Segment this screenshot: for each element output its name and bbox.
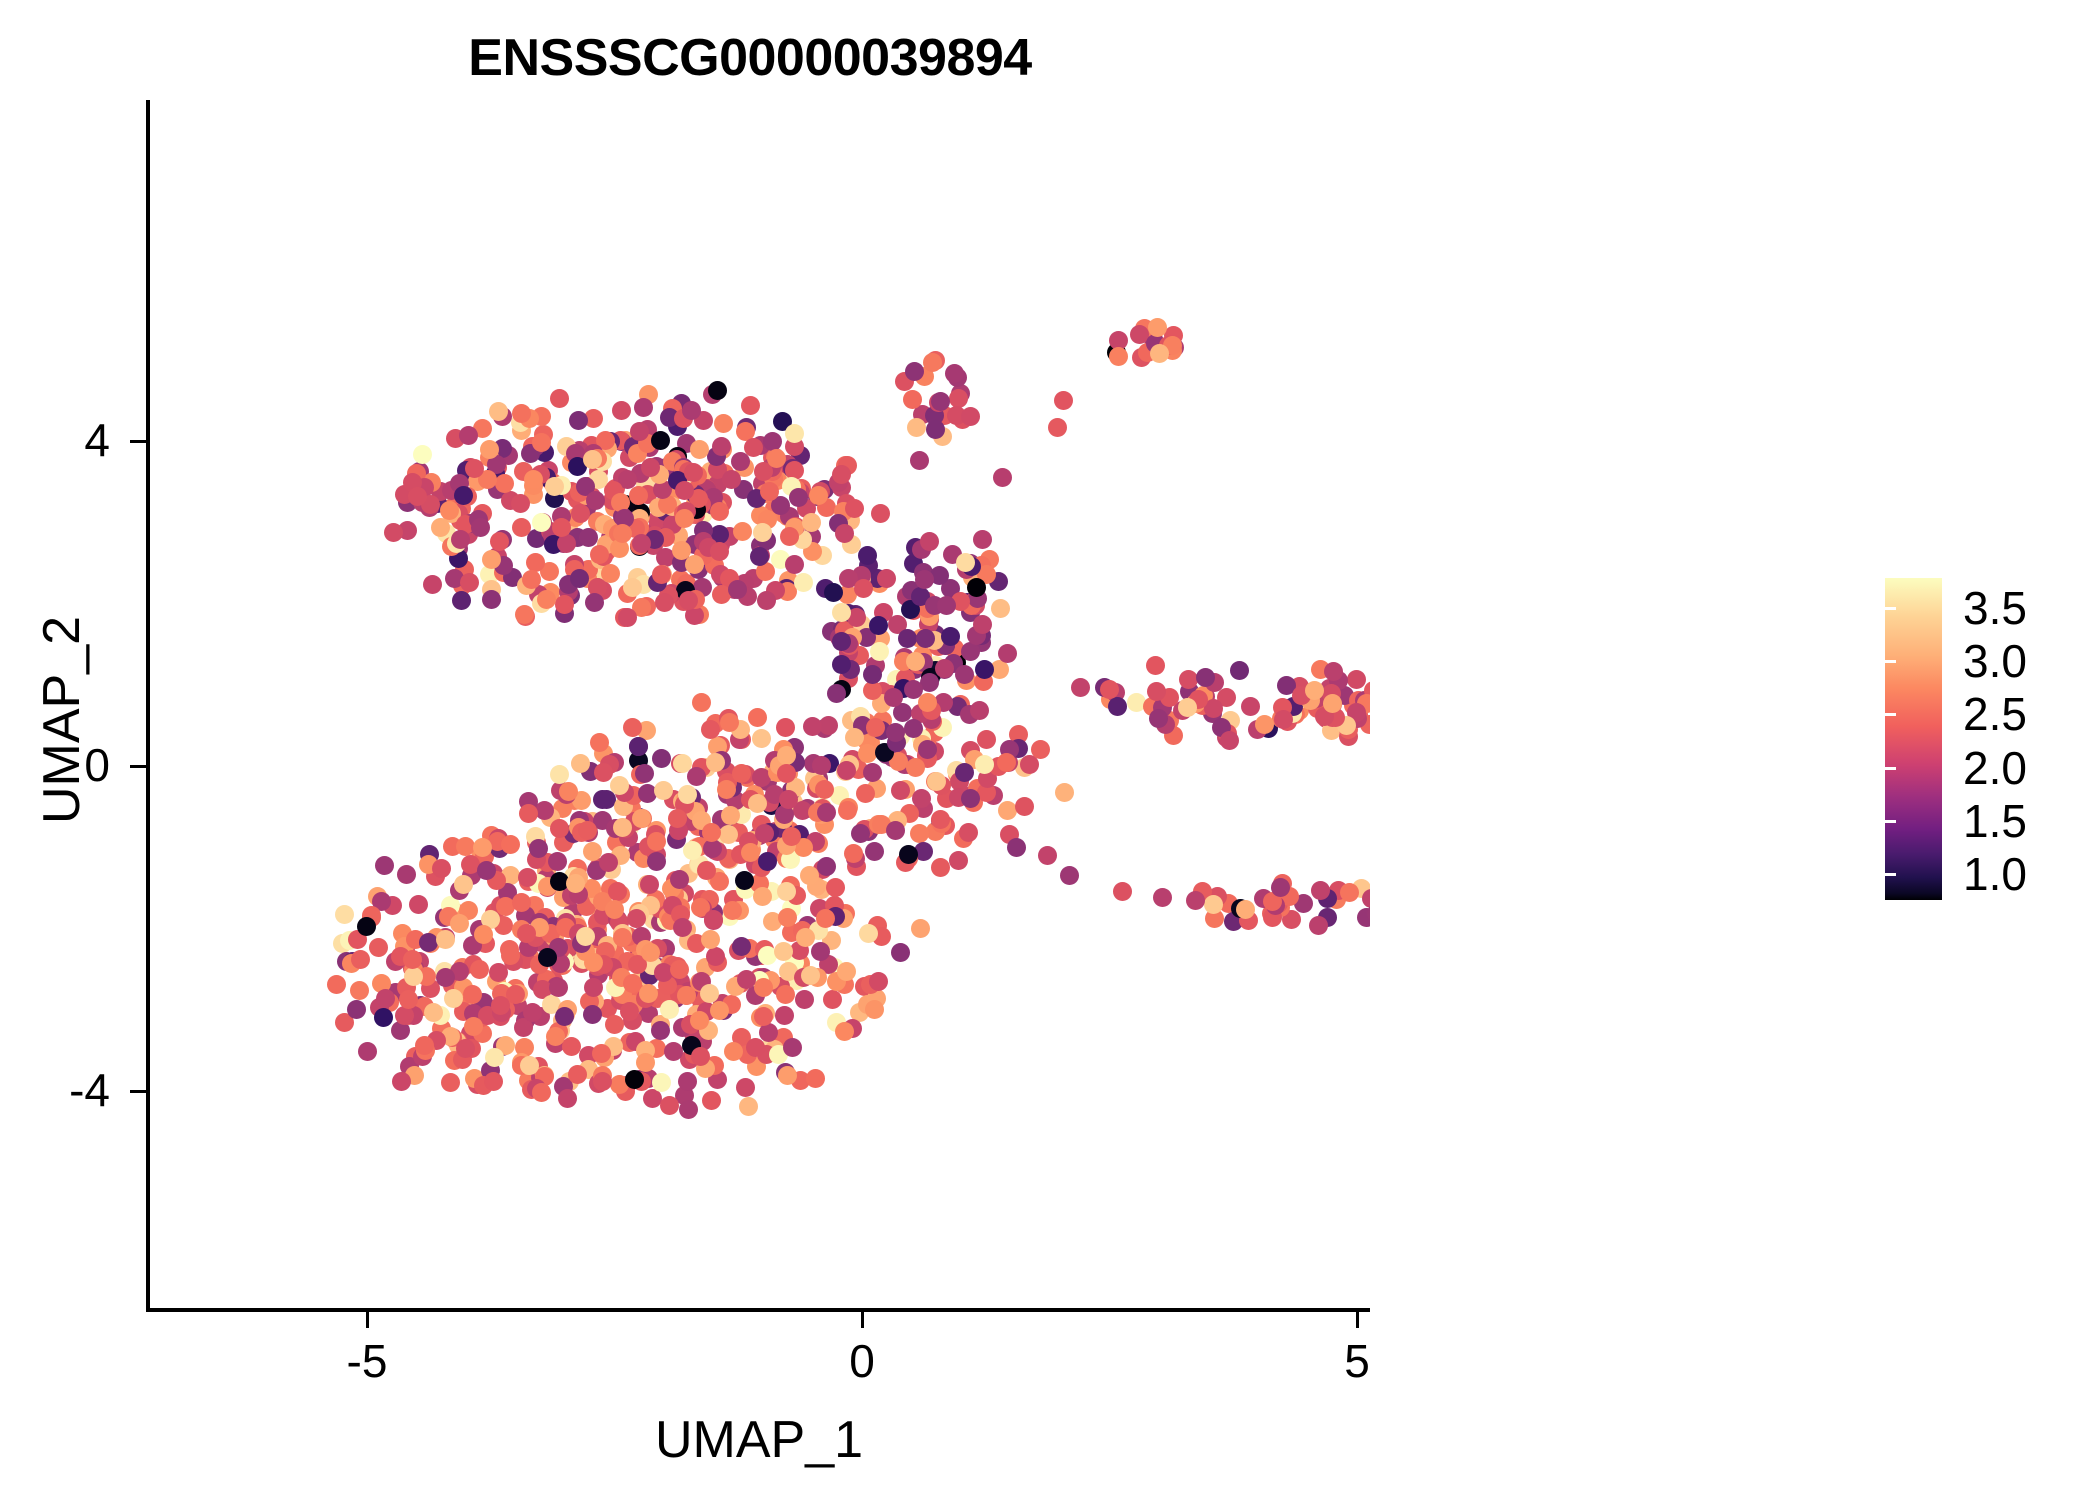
- scatter-point: [720, 713, 739, 732]
- scatter-point: [859, 924, 878, 943]
- scatter-point: [863, 763, 882, 782]
- scatter-point: [374, 1008, 393, 1027]
- scatter-point: [512, 518, 531, 537]
- scatter-point: [975, 755, 994, 774]
- colorbar-tick-mark: [1885, 660, 1896, 663]
- scatter-point: [865, 1000, 884, 1019]
- colorbar-tick-mark: [1885, 713, 1896, 716]
- scatter-point: [392, 1072, 411, 1091]
- scatter-point: [758, 852, 777, 871]
- scatter-point: [484, 1072, 503, 1091]
- colorbar-tick-label: 3.5: [1963, 585, 2027, 631]
- scatter-point: [1060, 866, 1079, 885]
- scatter-point: [675, 509, 694, 528]
- x-tick-mark: [861, 1312, 864, 1328]
- umap-feature-plot: ENSSSCG00000039894 40-4 -505 UMAP_1 UMAP…: [0, 0, 2100, 1500]
- scatter-point: [826, 878, 845, 897]
- scatter-point: [817, 857, 836, 876]
- scatter-point: [827, 684, 846, 703]
- scatter-point: [562, 1037, 581, 1056]
- scatter-point: [594, 763, 613, 782]
- scatter-point: [955, 763, 974, 782]
- scatter-point: [548, 852, 567, 871]
- scatter-point: [752, 729, 771, 748]
- scatter-point: [454, 875, 473, 894]
- scatter-point: [910, 824, 929, 843]
- scatter-point: [1149, 709, 1168, 728]
- scatter-point: [783, 1038, 802, 1057]
- scatter-point: [1109, 347, 1128, 366]
- scatter-point: [732, 764, 751, 783]
- scatter-point: [903, 390, 922, 409]
- scatter-point: [678, 785, 697, 804]
- colorbar-tick-mark: [1885, 607, 1896, 610]
- scatter-point: [776, 985, 795, 1004]
- scatter-point: [652, 749, 671, 768]
- scatter-point: [350, 981, 369, 1000]
- scatter-point: [754, 978, 773, 997]
- scatter-point: [1146, 656, 1165, 675]
- colorbar-tick-mark: [2064, 767, 2075, 770]
- y-tick-mark: [130, 1090, 146, 1093]
- scatter-point: [1048, 418, 1067, 437]
- scatter-point: [632, 809, 651, 828]
- scatter-point: [931, 858, 950, 877]
- scatter-point: [403, 950, 422, 969]
- scatter-point: [601, 564, 620, 583]
- scatter-point: [1153, 888, 1172, 907]
- scatter-point: [779, 790, 798, 809]
- colorbar-tick-mark: [2064, 820, 2075, 823]
- colorbar-tick-mark: [2064, 660, 2075, 663]
- scatter-point: [753, 887, 772, 906]
- scatter-point: [782, 827, 801, 846]
- scatter-point: [585, 593, 604, 612]
- scatter-point: [961, 789, 980, 808]
- scatter-point: [858, 546, 877, 565]
- scatter-point: [441, 1073, 460, 1092]
- scatter-point: [870, 642, 889, 661]
- scatter-point: [459, 426, 478, 445]
- scatter-point: [757, 591, 776, 610]
- x-tick-label: -5: [307, 1338, 427, 1384]
- scatter-point: [949, 851, 968, 870]
- scatter-point: [1100, 680, 1119, 699]
- scatter-point: [327, 975, 346, 994]
- scatter-point: [450, 914, 469, 933]
- scatter-point: [664, 1042, 683, 1061]
- scatter-point: [877, 569, 896, 588]
- scatter-point: [550, 765, 569, 784]
- scatter-point: [1324, 662, 1343, 681]
- scatter-point: [532, 513, 551, 532]
- scatter-point: [998, 801, 1017, 820]
- y-axis-line: [146, 100, 150, 1312]
- scatter-point: [532, 433, 551, 452]
- scatter-point: [719, 825, 738, 844]
- scatter-point: [593, 1072, 612, 1091]
- scatter-point: [369, 938, 388, 957]
- scatter-point: [865, 842, 884, 861]
- scatter-point: [583, 1005, 602, 1024]
- y-tick-mark: [130, 765, 146, 768]
- scatter-point: [837, 761, 856, 780]
- scatter-point: [905, 362, 924, 381]
- scatter-point: [639, 984, 658, 1003]
- scatter-point: [579, 528, 598, 547]
- scatter-point: [899, 845, 918, 864]
- scatter-point: [687, 767, 706, 786]
- scatter-point: [760, 482, 779, 501]
- scatter-point: [823, 990, 842, 1009]
- scatter-point: [647, 832, 666, 851]
- scatter-point: [819, 716, 838, 735]
- scatter-point: [704, 910, 723, 929]
- scatter-point: [576, 927, 595, 946]
- scatter-point: [1055, 783, 1074, 802]
- scatter-point: [480, 440, 499, 459]
- scatter-point: [571, 504, 590, 523]
- scatter-point: [918, 693, 937, 712]
- scatter-point: [955, 665, 974, 684]
- scatter-point: [523, 1003, 542, 1022]
- scatter-point: [977, 730, 996, 749]
- scatter-point: [703, 839, 722, 858]
- scatter-point: [651, 1021, 670, 1040]
- scatter-point: [697, 861, 716, 880]
- scatter-point: [835, 524, 854, 543]
- x-tick-label: 5: [1297, 1338, 1417, 1384]
- colorbar-tick-label: 3.0: [1963, 638, 2027, 684]
- scatter-point: [515, 605, 534, 624]
- scatter-point: [1031, 740, 1050, 759]
- scatter-point: [460, 573, 479, 592]
- scatter-point: [736, 1078, 755, 1097]
- scatter-point: [546, 1027, 565, 1046]
- scatter-point: [959, 823, 978, 842]
- scatter-point: [568, 1065, 587, 1084]
- scatter-point: [815, 780, 834, 799]
- scatter-point: [473, 838, 492, 857]
- scatter-point: [998, 644, 1017, 663]
- scatter-point: [635, 764, 654, 783]
- scatter-point: [471, 518, 490, 537]
- scatter-point: [384, 523, 403, 542]
- scatter-point: [906, 758, 925, 777]
- scatter-point: [538, 948, 557, 967]
- colorbar-tick-mark: [2064, 607, 2075, 610]
- scatter-point: [918, 740, 937, 759]
- scatter-point: [863, 665, 882, 684]
- scatter-point: [931, 810, 950, 829]
- scatter-point: [532, 1083, 551, 1102]
- scatter-point: [375, 856, 394, 875]
- colorbar-tick-label: 1.0: [1963, 851, 2027, 897]
- scatter-point: [708, 381, 727, 400]
- page-title: ENSSSCG00000039894: [0, 28, 1500, 88]
- scatter-point: [424, 1003, 443, 1022]
- scatter-point: [735, 871, 754, 890]
- scatter-point: [524, 470, 543, 489]
- scatter-point: [566, 874, 585, 893]
- scatter-point: [721, 806, 740, 825]
- scatter-point: [915, 570, 934, 589]
- scatter-point: [451, 530, 470, 549]
- scatter-point: [777, 746, 796, 765]
- scatter-point: [1255, 715, 1274, 734]
- scatter-point: [1148, 318, 1167, 337]
- colorbar-tick-mark: [2064, 713, 2075, 716]
- scatter-point: [1347, 670, 1366, 689]
- scatter-point: [795, 990, 814, 1009]
- scatter-point: [927, 772, 946, 791]
- scatter-point: [702, 1091, 721, 1110]
- colorbar-tick-mark: [1885, 820, 1896, 823]
- scatter-point: [592, 1044, 611, 1063]
- scatter-point: [684, 463, 703, 482]
- scatter-point: [741, 843, 760, 862]
- scatter-point: [660, 1000, 679, 1019]
- scatter-point: [961, 407, 980, 426]
- scatter-point: [1179, 670, 1198, 689]
- scatter-point: [817, 803, 836, 822]
- scatter-point: [570, 569, 589, 588]
- scatter-point: [1241, 697, 1260, 716]
- y-axis-label: UMAP_2: [32, 410, 92, 1030]
- scatter-point: [811, 942, 830, 961]
- scatter-points-layer: [148, 100, 1370, 1310]
- scatter-point: [409, 895, 428, 914]
- scatter-point: [1113, 882, 1132, 901]
- scatter-point: [832, 655, 851, 674]
- x-axis-label: UMAP_1: [148, 1410, 1370, 1470]
- scatter-point: [518, 868, 537, 887]
- scatter-point: [683, 841, 702, 860]
- scatter-point: [501, 835, 520, 854]
- scatter-point: [623, 718, 642, 737]
- scatter-point: [1186, 891, 1205, 910]
- y-tick-label: -4: [69, 1067, 110, 1113]
- scatter-point: [973, 530, 992, 549]
- scatter-point: [739, 1097, 758, 1116]
- scatter-point: [710, 542, 729, 561]
- scatter-point: [967, 578, 986, 597]
- scatter-point: [470, 960, 489, 979]
- scatter-point: [1340, 883, 1359, 902]
- scatter-point: [910, 451, 929, 470]
- scatter-point: [660, 1096, 679, 1115]
- scatter-point: [651, 431, 670, 450]
- scatter-point: [463, 985, 482, 1004]
- scatter-point: [413, 445, 432, 464]
- scatter-point: [335, 905, 354, 924]
- scatter-point: [569, 411, 588, 430]
- scatter-point: [785, 555, 804, 574]
- scatter-point: [702, 823, 721, 842]
- scatter-point: [970, 701, 989, 720]
- scatter-point: [748, 708, 767, 727]
- scatter-point: [886, 821, 905, 840]
- scatter-point: [522, 570, 541, 589]
- scatter-point: [1015, 797, 1034, 816]
- scatter-point: [351, 950, 370, 969]
- scatter-point: [670, 870, 689, 889]
- colorbar-tick-label: 1.5: [1963, 798, 2027, 844]
- scatter-point: [794, 573, 813, 592]
- scatter-point: [519, 804, 538, 823]
- scatter-point: [436, 930, 455, 949]
- scatter-point: [907, 418, 926, 437]
- scatter-point: [949, 389, 968, 408]
- scatter-point: [482, 550, 501, 569]
- scatter-point: [912, 789, 931, 808]
- scatter-point: [1362, 889, 1370, 908]
- scatter-point: [838, 801, 857, 820]
- scatter-point: [724, 1042, 743, 1061]
- scatter-point: [1054, 391, 1073, 410]
- scatter-point: [623, 974, 642, 993]
- scatter-point: [712, 437, 731, 456]
- scatter-point: [612, 401, 631, 420]
- scatter-point: [692, 693, 711, 712]
- scatter-point: [991, 599, 1010, 618]
- scatter-point: [625, 1070, 644, 1089]
- scatter-point: [898, 629, 917, 648]
- scatter-point: [869, 972, 888, 991]
- scatter-point: [837, 962, 856, 981]
- scatter-point: [723, 901, 742, 920]
- scatter-point: [599, 853, 618, 872]
- scatter-point: [1196, 668, 1215, 687]
- scatter-point: [845, 499, 864, 518]
- scatter-point: [931, 392, 950, 411]
- scatter-point: [613, 928, 632, 947]
- scatter-point: [584, 953, 603, 972]
- scatter-point: [485, 1048, 504, 1067]
- scatter-point: [816, 909, 835, 928]
- x-tick-label: 0: [802, 1338, 922, 1384]
- scatter-point: [1204, 895, 1223, 914]
- scatter-point: [710, 1001, 729, 1020]
- scatter-point: [800, 866, 819, 885]
- scatter-point: [803, 717, 822, 736]
- scatter-point: [854, 579, 873, 598]
- scatter-point: [490, 532, 509, 551]
- scatter-point: [415, 1036, 434, 1055]
- scatter-point: [835, 1022, 854, 1041]
- scatter-point: [477, 861, 496, 880]
- scatter-point: [844, 844, 863, 863]
- scatter-point: [679, 1100, 698, 1119]
- scatter-point: [975, 660, 994, 679]
- scatter-point: [682, 401, 701, 420]
- scatter-point: [537, 590, 556, 609]
- colorbar-tick-label: 2.0: [1963, 745, 2027, 791]
- scatter-point: [926, 420, 945, 439]
- scatter-point: [690, 440, 709, 459]
- scatter-point: [732, 937, 751, 956]
- scatter-point: [1178, 698, 1197, 717]
- scatter-point: [654, 781, 673, 800]
- scatter-point: [1230, 661, 1249, 680]
- scatter-point: [856, 784, 875, 803]
- scatter-point: [432, 859, 451, 878]
- color-legend: 3.53.02.52.01.51.0: [1885, 578, 2075, 908]
- scatter-point: [491, 996, 510, 1015]
- scatter-point: [655, 593, 674, 612]
- scatter-point: [571, 754, 590, 773]
- scatter-point: [550, 819, 569, 838]
- scatter-point: [750, 547, 769, 566]
- scatter-point: [511, 494, 530, 513]
- scatter-point: [357, 917, 376, 936]
- scatter-point: [517, 924, 536, 943]
- scatter-point: [785, 424, 804, 443]
- scatter-point: [608, 882, 627, 901]
- scatter-point: [920, 532, 939, 551]
- colorbar-tick-mark: [1885, 767, 1896, 770]
- x-tick-mark: [366, 1312, 369, 1328]
- scatter-point: [789, 488, 808, 507]
- scatter-point: [431, 518, 450, 537]
- scatter-point: [710, 502, 729, 521]
- scatter-point: [593, 790, 612, 809]
- scatter-point: [678, 1072, 697, 1091]
- scatter-point: [891, 943, 910, 962]
- x-axis-line: [146, 1308, 1370, 1312]
- scatter-point: [1038, 846, 1057, 865]
- scatter-point: [552, 518, 571, 537]
- colorbar-tick-mark: [1885, 873, 1896, 876]
- scatter-point: [961, 642, 980, 661]
- scatter-point: [916, 629, 935, 648]
- scatter-point: [550, 389, 569, 408]
- scatter-point: [780, 527, 799, 546]
- scatter-point: [482, 590, 501, 609]
- scatter-point: [647, 852, 666, 871]
- scatter-point: [701, 930, 720, 949]
- scatter-point: [1220, 731, 1239, 750]
- scatter-point: [776, 718, 795, 737]
- scatter-point: [629, 737, 648, 756]
- scatter-point: [778, 1066, 797, 1085]
- scatter-point: [748, 794, 767, 813]
- scatter-point: [558, 1089, 577, 1108]
- scatter-point: [634, 398, 653, 417]
- scatter-point: [923, 353, 942, 372]
- scatter-point: [911, 919, 930, 938]
- scatter-point: [632, 534, 651, 553]
- scatter-point: [358, 1042, 377, 1061]
- x-tick-mark: [1356, 1312, 1359, 1328]
- scatter-point: [993, 468, 1012, 487]
- scatter-point: [722, 470, 741, 489]
- scatter-point: [733, 522, 752, 541]
- scatter-point: [629, 486, 648, 505]
- scatter-point: [1007, 838, 1026, 857]
- scatter-point: [806, 1069, 825, 1088]
- scatter-point: [452, 591, 471, 610]
- scatter-point: [529, 839, 548, 858]
- scatter-point: [489, 402, 508, 421]
- scatter-point: [436, 968, 455, 987]
- scatter-point: [677, 986, 696, 1005]
- scatter-point: [741, 396, 760, 415]
- scatter-point: [618, 608, 637, 627]
- scatter-point: [1305, 681, 1324, 700]
- scatter-point: [1108, 697, 1127, 716]
- scatter-point: [652, 565, 671, 584]
